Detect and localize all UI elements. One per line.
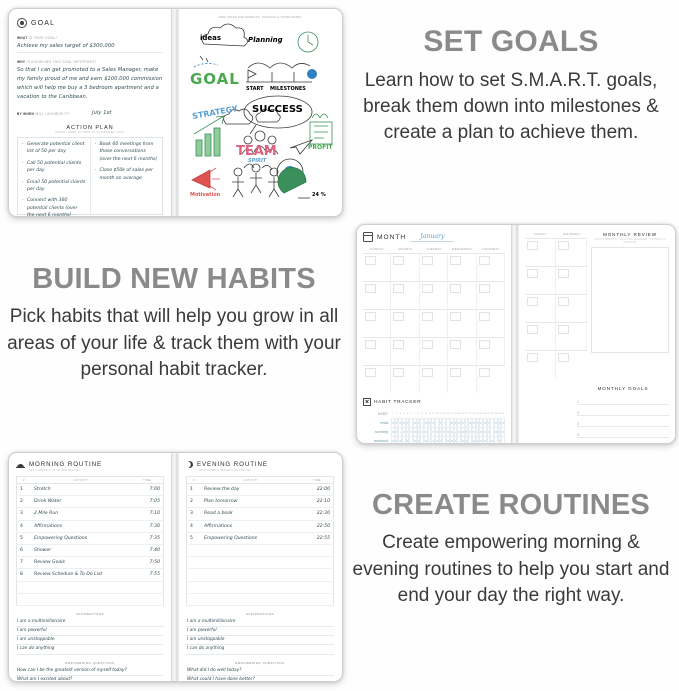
row-number: 6	[17, 544, 32, 556]
month-day-grid	[363, 253, 505, 393]
doodle-word: TEAM	[236, 144, 277, 159]
evening-routine-table: # ACTIVITY TIME 1Review the day22:00 2Pl…	[186, 476, 334, 606]
goal-title-text: GOAL	[31, 20, 55, 27]
habit-tracker-header: HABIT TRACKER	[363, 398, 505, 406]
monthly-review-title: MONTHLY REVIEW	[591, 232, 669, 237]
habit-col-label: HABIT	[363, 412, 391, 416]
day-cell[interactable]	[448, 281, 476, 309]
doodle-word: ideas	[200, 34, 221, 42]
day-cell[interactable]	[525, 266, 556, 294]
evening-routine-header: EVENING ROUTINE	[186, 461, 334, 468]
row-time: 22:10	[301, 496, 334, 508]
row-activity: Affirmations	[201, 520, 301, 532]
row-time: 7:40	[131, 544, 164, 556]
day-cell[interactable]	[525, 294, 556, 322]
row-activity	[201, 569, 301, 581]
row-time: 7:55	[131, 569, 164, 581]
table-row[interactable]	[187, 544, 334, 556]
monthly-goal-number: 4	[577, 433, 585, 437]
row-time	[301, 581, 334, 593]
day-cell[interactable]	[525, 322, 556, 350]
evening-routine-subtitle: WIND DOWN & REFLECT ON THE DAY	[199, 469, 334, 472]
monthly-goal-row[interactable]: 3	[577, 416, 669, 427]
doodle-word: MILESTONES	[270, 86, 306, 92]
row-activity: Review Goals	[31, 557, 131, 569]
heading-build-new-habits: BUILD NEW HABITS	[6, 264, 342, 294]
table-row[interactable]: 3Read a book22:30	[187, 508, 334, 520]
habit-name: running	[363, 430, 391, 434]
row-activity: Empowering Questions	[201, 532, 301, 544]
row-number	[187, 581, 202, 593]
row-number: 1	[187, 484, 202, 496]
day-cell[interactable]	[556, 238, 587, 266]
row-time: 7:35	[131, 532, 164, 544]
goal-field-what-value[interactable]: Achieve my sales target of $300,000	[17, 42, 163, 53]
row-number: 3	[187, 508, 202, 520]
row-activity	[201, 544, 301, 556]
habit-tracker-title: HABIT TRACKER	[374, 400, 421, 405]
goal-field-bywhen-label: BY WHEN WILL I ACHIEVE IT?	[17, 112, 70, 116]
question-line[interactable]: What am I excited about?	[16, 676, 164, 682]
day-cell[interactable]	[477, 337, 505, 365]
goal-field-why: WHY IS ACHIEVING THIS GOAL IMPORTANT? So…	[17, 60, 163, 102]
row-activity	[201, 581, 301, 593]
day-cell[interactable]	[556, 294, 587, 322]
row-time: 7:00	[131, 484, 164, 496]
row-time	[301, 557, 334, 569]
action-plan-left-column: Generate potential client list of 50 per…	[18, 138, 91, 214]
row-time	[131, 581, 164, 593]
affirmation-line[interactable]: I can do anything	[16, 645, 164, 654]
table-row[interactable]: 4Affirmations7:30	[17, 520, 164, 532]
question-line[interactable]: How can I be the greatest version of mys…	[16, 667, 164, 676]
col-number: #	[187, 477, 202, 484]
row-activity: 2 Mile Run	[31, 508, 131, 520]
table-row[interactable]: 7Review Goals7:50	[17, 557, 164, 569]
questions-title: EMPOWERING QUESTIONS	[186, 661, 334, 665]
goal-field-why-label: WHY IS ACHIEVING THIS GOAL IMPORTANT?	[17, 60, 163, 64]
affirmations-list: I am a multimillionaire I am powerful I …	[16, 618, 164, 655]
routines-spread-image: MORNING ROUTINE SET YOURSELF UP TO WIN T…	[8, 452, 343, 682]
row-number: 1	[17, 484, 32, 496]
doodle-word: 24 %	[312, 192, 326, 198]
day-cell[interactable]	[477, 253, 505, 281]
monthly-planner-spread-image: MONTH January SUNDAY MONDAY TUESDAY WEDN…	[356, 224, 676, 444]
row-time: 7:10	[131, 508, 164, 520]
col-activity: ACTIVITY	[201, 477, 301, 484]
row-activity	[201, 557, 301, 569]
monthly-goal-row[interactable]: 2	[577, 405, 669, 416]
doodle-page-note: FREE SPACE FOR DOODLING, PLANNING & OTHE…	[186, 16, 334, 19]
habit-check-icon	[363, 398, 371, 406]
affirmation-line[interactable]: I am unstoppable	[16, 636, 164, 645]
body-create-routines: Create empowering morning & evening rout…	[350, 530, 672, 609]
row-time: 7:50	[131, 557, 164, 569]
action-plan-right-column: Book 60 meetings from those conversation…	[91, 138, 163, 214]
monthly-goals: MONTHLY GOALS 1 2 3 4 5 6	[525, 386, 669, 444]
row-time	[301, 544, 334, 556]
row-activity: Review the day	[201, 484, 301, 496]
row-activity: Shower	[31, 544, 131, 556]
row-activity: Read a book	[201, 508, 301, 520]
doodle-word: GOAL	[190, 70, 240, 88]
table-row[interactable]: 1Stretch7:00	[17, 484, 164, 496]
habit-name: workout	[363, 439, 391, 443]
day-cell[interactable]	[477, 309, 505, 337]
row-number: 2	[187, 496, 202, 508]
row-number: 4	[17, 520, 32, 532]
questions-title: EMPOWERING QUESTIONS	[16, 661, 164, 665]
col-number: #	[17, 477, 32, 484]
row-activity: Drink Water	[31, 496, 131, 508]
table-row[interactable]	[17, 593, 164, 605]
book-spine	[172, 453, 179, 681]
table-row[interactable]: 32 Mile Run7:10	[17, 508, 164, 520]
morning-routine-subtitle: SET YOURSELF UP TO WIN THE DAY	[29, 469, 164, 472]
action-plan-item[interactable]: Call 50 potential clients per day	[27, 160, 86, 175]
day-cell[interactable]	[391, 365, 419, 393]
questions-list: What did I do well today? What could I h…	[186, 667, 334, 682]
row-number	[187, 569, 202, 581]
doodle-word: START	[246, 86, 264, 92]
row-time	[131, 593, 164, 605]
row-number	[187, 593, 202, 605]
day-cell[interactable]	[448, 365, 476, 393]
target-icon	[17, 18, 27, 28]
row-number: 8	[17, 569, 32, 581]
day-cell[interactable]	[420, 281, 448, 309]
row-activity: Review Schedule & To-Do List	[31, 569, 131, 581]
action-plan-item[interactable]: Close $50k of sales per month on average	[100, 167, 159, 182]
month-header: MONTH January	[363, 232, 505, 242]
action-plan-item[interactable]: Connect with 360 potential clients (over…	[27, 197, 86, 217]
question-line[interactable]: What could I have done better?	[186, 676, 334, 682]
table-header-row: # ACTIVITY TIME	[187, 477, 334, 484]
col-time: TIME	[301, 477, 334, 484]
habit-tracker: HABIT TRACKER HABIT 12345678910111213141…	[363, 398, 505, 444]
monthly-goal-number: 2	[577, 411, 585, 415]
row-time: 22:00	[301, 484, 334, 496]
doodle-word: SUCCESS	[252, 104, 303, 115]
goal-page-right-doodles: FREE SPACE FOR DOODLING, PLANNING & OTHE…	[179, 9, 341, 216]
day-cell[interactable]	[556, 322, 587, 350]
row-number: 4	[187, 520, 202, 532]
affirmations-title: AFFIRMATIONS	[186, 612, 334, 616]
col-time: TIME	[131, 477, 164, 484]
day-cell[interactable]	[391, 281, 419, 309]
habit-row[interactable]: workoutXXX-XXXX-XXXXXX-XXXXXX-XX	[363, 436, 505, 444]
doodle-word: Planning	[248, 36, 283, 44]
monthly-review-box[interactable]	[591, 247, 669, 353]
affirmation-line[interactable]: I am a multimillionaire	[186, 618, 334, 627]
heading-create-routines: CREATE ROUTINES	[350, 490, 672, 520]
day-cell[interactable]	[477, 365, 505, 393]
habit-marks[interactable]: XXX-XXXX-XXXXXX-XXXXXX-XX	[391, 436, 505, 445]
goal-page-left: GOAL WHAT IS YOUR GOAL? Achieve my sales…	[9, 9, 172, 216]
month-title: MONTH	[377, 234, 406, 241]
affirmation-line[interactable]: I am powerful	[186, 627, 334, 636]
goal-field-what: WHAT IS YOUR GOAL? Achieve my sales targ…	[17, 36, 163, 53]
table-row[interactable]	[187, 593, 334, 605]
row-time: 7:05	[131, 496, 164, 508]
table-row[interactable]: 5Empowering Questions22:55	[187, 532, 334, 544]
goal-field-bywhen-value[interactable]: July 1st	[92, 109, 111, 118]
row-time: 22:30	[301, 508, 334, 520]
table-row[interactable]	[187, 569, 334, 581]
heading-set-goals: SET GOALS	[352, 26, 670, 58]
day-cell[interactable]	[420, 253, 448, 281]
row-activity	[201, 593, 301, 605]
row-time	[301, 593, 334, 605]
morning-routine-title: MORNING ROUTINE	[29, 461, 102, 468]
day-cell[interactable]	[420, 337, 448, 365]
copy-block-create-routines: CREATE ROUTINES Create empowering mornin…	[350, 490, 672, 609]
row-number: 7	[17, 557, 32, 569]
moon-icon	[186, 461, 193, 468]
goal-page-title: GOAL	[17, 18, 163, 28]
doodle-word: SPIRIT	[248, 158, 266, 164]
body-build-new-habits: Pick habits that will help you grow in a…	[6, 304, 342, 383]
morning-routine-page: MORNING ROUTINE SET YOURSELF UP TO WIN T…	[9, 453, 172, 681]
month-weekend-grid	[525, 238, 587, 378]
day-cell[interactable]	[420, 309, 448, 337]
monthly-goal-number: 1	[577, 400, 585, 404]
day-cell[interactable]	[448, 253, 476, 281]
affirmation-line[interactable]: I am unstoppable	[186, 636, 334, 645]
row-time: 22:55	[301, 532, 334, 544]
body-set-goals: Learn how to set S.M.A.R.T. goals, break…	[352, 68, 670, 147]
monthly-review-subtitle: ACHIEVEMENTS | LESSONS LEARNED | THINGS …	[591, 238, 669, 244]
row-activity	[31, 581, 131, 593]
month-value[interactable]: January	[410, 233, 454, 242]
row-activity: Affirmations	[31, 520, 131, 532]
table-row[interactable]: 2Drink Water7:05	[17, 496, 164, 508]
day-cell[interactable]	[477, 281, 505, 309]
row-number: 3	[17, 508, 32, 520]
monthly-goal-row[interactable]: 4	[577, 427, 669, 438]
row-activity	[31, 593, 131, 605]
month-page-right: FRIDAY SATURDAY MONTHLY REVIEW ACHIEVEME…	[519, 225, 675, 443]
table-row[interactable]: 4Affirmations22:50	[187, 520, 334, 532]
col-activity: ACTIVITY	[31, 477, 131, 484]
action-plan-item[interactable]: Generate potential client list of 50 per…	[27, 141, 86, 156]
day-cell[interactable]	[363, 337, 391, 365]
row-number: 5	[187, 532, 202, 544]
goal-field-bywhen: BY WHEN WILL I ACHIEVE IT? July 1st	[17, 109, 163, 118]
copy-block-set-goals: SET GOALS Learn how to set S.M.A.R.T. go…	[352, 26, 670, 146]
affirmations-list: I am a multimillionaire I am powerful I …	[186, 618, 334, 655]
affirmations-title: AFFIRMATIONS	[16, 612, 164, 616]
row-activity: Empowering Questions	[31, 532, 131, 544]
doodle-canvas: ideas Planning GOAL START MILESTONES STR…	[186, 22, 334, 200]
day-cell[interactable]	[391, 337, 419, 365]
goal-planner-spread-image: GOAL WHAT IS YOUR GOAL? Achieve my sales…	[8, 8, 343, 217]
day-cell[interactable]	[391, 253, 419, 281]
row-time: 7:30	[131, 520, 164, 532]
day-cell[interactable]	[363, 253, 391, 281]
row-activity: Stretch	[31, 484, 131, 496]
question-line[interactable]: What did I do well today?	[186, 667, 334, 676]
doodle-word: Motivation	[190, 192, 220, 198]
row-activity: Plan tomorrow	[201, 496, 301, 508]
day-cell[interactable]	[525, 350, 556, 378]
day-cell[interactable]	[363, 365, 391, 393]
table-row[interactable]: 5Empowering Questions7:35	[17, 532, 164, 544]
action-plan-item[interactable]: Book 60 meetings from those conversation…	[100, 141, 159, 163]
row-number	[187, 544, 202, 556]
table-row[interactable]: 6Shower7:40	[17, 544, 164, 556]
morning-routine-header: MORNING ROUTINE	[16, 461, 164, 468]
goal-field-what-label: WHAT IS YOUR GOAL?	[17, 36, 163, 40]
row-time: 22:50	[301, 520, 334, 532]
habit-name: read	[363, 421, 391, 425]
month-page-left: MONTH January SUNDAY MONDAY TUESDAY WEDN…	[357, 225, 512, 443]
day-cell[interactable]	[556, 266, 587, 294]
action-plan-box: Generate potential client list of 50 per…	[17, 137, 163, 215]
morning-routine-table: # ACTIVITY TIME 1Stretch7:00 2Drink Wate…	[16, 476, 164, 606]
table-row[interactable]	[17, 581, 164, 593]
table-row[interactable]: 1Review the day22:00	[187, 484, 334, 496]
table-row[interactable]	[187, 557, 334, 569]
row-number	[17, 593, 32, 605]
table-row[interactable]: 2Plan tomorrow22:10	[187, 496, 334, 508]
row-time	[301, 569, 334, 581]
table-row[interactable]	[187, 581, 334, 593]
questions-list: How can I be the greatest version of mys…	[16, 667, 164, 682]
doodle-word: PROFIT	[308, 144, 333, 151]
monthly-goal-number: 3	[577, 422, 585, 426]
affirmation-line[interactable]: I am a multimillionaire	[16, 618, 164, 627]
day-cell[interactable]	[420, 365, 448, 393]
affirmation-line[interactable]: I can do anything	[186, 645, 334, 654]
calendar-icon	[363, 232, 373, 242]
action-plan-subtitle: STEPS I NEED TO TAKE TO ACHIEVE MY GOAL	[17, 131, 163, 134]
monthly-goals-title: MONTHLY GOALS	[577, 386, 669, 391]
row-number: 5	[17, 532, 32, 544]
day-cell[interactable]	[363, 309, 391, 337]
habit-day-numbers: 1234567891011121314151617181920212223242…	[391, 413, 505, 415]
day-cell[interactable]	[525, 238, 556, 266]
day-cell[interactable]	[448, 337, 476, 365]
day-cell[interactable]	[363, 281, 391, 309]
day-cell[interactable]	[448, 309, 476, 337]
day-cell[interactable]	[391, 309, 419, 337]
table-row[interactable]: 8Review Schedule & To-Do List7:55	[17, 569, 164, 581]
book-spine	[172, 9, 179, 216]
product-feature-collage: GOAL WHAT IS YOUR GOAL? Achieve my sales…	[0, 0, 679, 691]
book-spine	[512, 225, 519, 443]
evening-routine-title: EVENING ROUTINE	[197, 461, 268, 468]
row-number: 2	[17, 496, 32, 508]
copy-block-build-new-habits: BUILD NEW HABITS Pick habits that will h…	[6, 264, 342, 383]
day-cell[interactable]	[556, 350, 587, 378]
evening-routine-page: EVENING ROUTINE WIND DOWN & REFLECT ON T…	[179, 453, 341, 681]
goal-field-why-value[interactable]: So that I can get promoted to a Sales Ma…	[17, 66, 163, 102]
affirmation-line[interactable]: I am powerful	[16, 627, 164, 636]
row-number	[17, 581, 32, 593]
sunrise-icon	[16, 462, 25, 468]
monthly-goal-row[interactable]: 1	[577, 394, 669, 405]
monthly-goal-row[interactable]: 5	[577, 438, 669, 444]
table-header-row: # ACTIVITY TIME	[17, 477, 164, 484]
action-plan-item[interactable]: Email 50 potential clients per day	[27, 179, 86, 194]
row-number	[187, 557, 202, 569]
